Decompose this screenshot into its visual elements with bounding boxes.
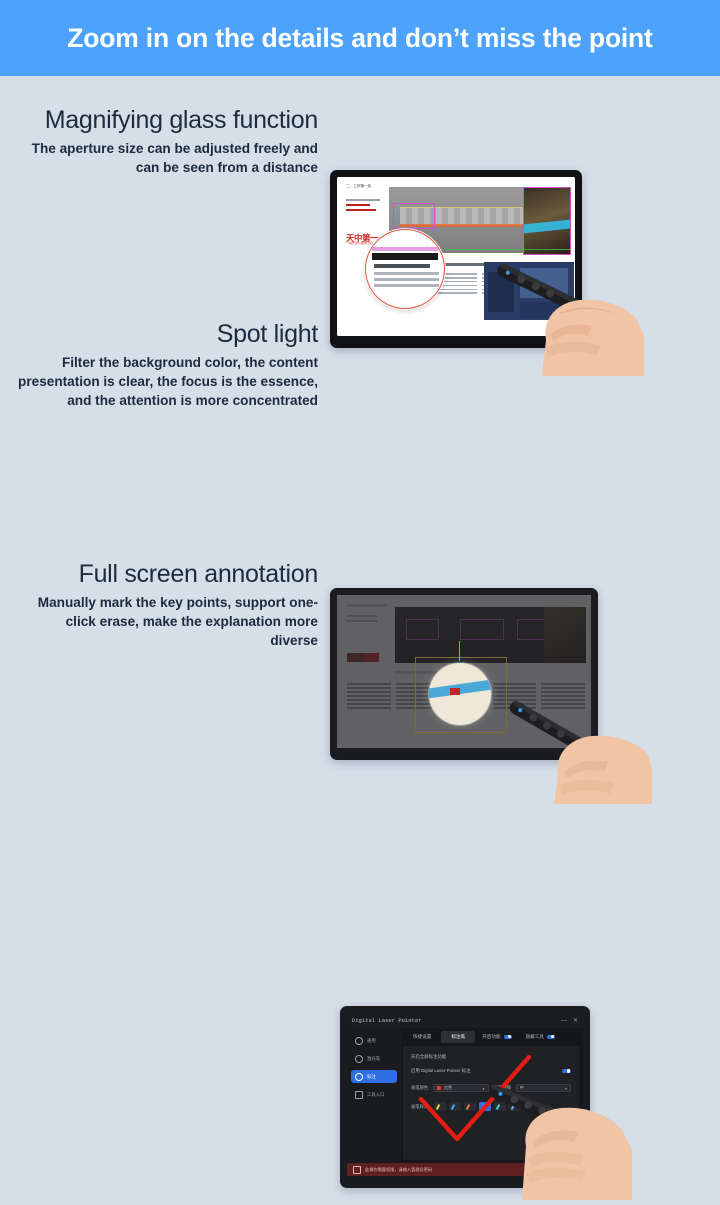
feature-media-3: Digital Laser Pointer — ✕ 快捷设置 标注笔 开启功能 [340,1006,590,1188]
chevron-down-icon: ▾ [565,1086,567,1091]
app-main-panel: 开启全屏标注功能 启用 Digital Laser Pointer 标注 画笔颜… [403,1046,579,1160]
pen-swatch-yellow[interactable] [434,1102,446,1111]
feature-text-1: Magnifying glass function The aperture s… [18,106,318,178]
warning-icon [353,1166,361,1174]
slide-heading-1: 二、工作第一站 [346,184,371,189]
sidebar-item-general-label: 通用 [367,1038,376,1044]
pen-width-select[interactable]: 中 ▾ [516,1084,571,1092]
page-title: Zoom in on the details and don’t miss th… [67,23,652,54]
toggle-enable-feature[interactable]: 开启功能 [475,1034,518,1040]
pen-swatch-lightblue[interactable] [509,1102,521,1111]
magnifier-zoomed-bar [372,253,438,260]
grid-icon [355,1091,363,1099]
pen-swatch-orange[interactable] [464,1102,476,1111]
chevron-down-icon: ▾ [482,1086,484,1091]
toggle-enable-feature-label: 开启功能 [482,1034,500,1040]
pen-color-swatch [437,1086,441,1090]
header-banner: Zoom in on the details and don’t miss th… [0,0,720,76]
sidebar-item-annotation[interactable]: 标注 [351,1070,397,1083]
panel-enable-switch[interactable] [562,1069,571,1074]
app-tab-bar: 快捷设置 标注笔 开启功能 隐藏工具 [403,1030,583,1044]
digital-laser-pointer-app: Digital Laser Pointer — ✕ 快捷设置 标注笔 开启功能 [347,1013,583,1176]
feature-row-spot-light: Spot light Filter the background color, … [0,292,720,482]
slide-meta-lines-1 [346,199,380,214]
app-title-text: Digital Laser Pointer [352,1018,422,1024]
tab-annotation-pen[interactable]: 标注笔 [441,1031,475,1043]
sidebar-item-general[interactable]: 通用 [351,1034,397,1047]
window-controls: — ✕ [561,1018,578,1024]
app-status-bar: 此操作需要权限，请输入管理员密码 [347,1163,583,1176]
minimize-icon[interactable]: — [561,1018,567,1024]
magnifier-zoomed-text [374,264,440,290]
infographic-page: Zoom in on the details and don’t miss th… [0,0,720,720]
pen-swatch-purple[interactable] [479,1102,491,1111]
toggle-hide-tools-label: 隐藏工具 [526,1034,544,1040]
pen-swatch-cyan[interactable] [494,1102,506,1111]
pen-color-select[interactable]: 红色 ▾ [433,1084,488,1092]
sidebar-item-laser-pen-label: 激光笔 [367,1056,380,1062]
feature-row-magnifying-glass: Magnifying glass function The aperture s… [0,84,720,280]
pointer-icon [355,1055,363,1063]
toggle-hide-tools-switch[interactable] [547,1035,555,1039]
tablet-device-3: Digital Laser Pointer — ✕ 快捷设置 标注笔 开启功能 [340,1006,590,1188]
pen-width-value: 中 [520,1085,524,1091]
pen-color-value: 红色 [444,1085,452,1091]
toggle-hide-tools[interactable]: 隐藏工具 [519,1034,562,1040]
slide-selection-box [393,203,435,229]
pen-color-label: 画笔颜色 [411,1085,428,1091]
panel-select-row: 画笔颜色 红色 ▾ 画笔粗细 中 ▾ [411,1084,571,1092]
app-title-bar: Digital Laser Pointer — ✕ [347,1013,583,1028]
app-sidebar: 通用 激光笔 标注 工 [347,1028,401,1162]
feature-description-1: The aperture size can be adjusted freely… [18,140,318,178]
feature-row-full-screen-annotation: Full screen annotation Manually mark the… [0,500,720,696]
sidebar-item-tool-entry-label: 工具入口 [367,1092,385,1098]
pen-style-label: 画笔样式 [411,1104,428,1110]
sidebar-item-tool-entry[interactable]: 工具入口 [351,1088,397,1101]
feature-title-3: Full screen annotation [18,560,318,588]
sidebar-item-annotation-label: 标注 [367,1074,376,1080]
gear-icon [355,1037,363,1045]
panel-enable-label: 启用 Digital Laser Pointer 标注 [411,1068,471,1074]
tab-quick-settings[interactable]: 快捷设置 [403,1031,441,1043]
feature-text-2: Spot light Filter the background color, … [18,320,318,410]
app-status-text: 此操作需要权限，请输入管理员密码 [365,1167,432,1173]
panel-section-label: 开启全屏标注功能 [411,1054,571,1060]
panel-pen-styles-row: 画笔样式 [411,1102,571,1111]
toggle-enable-feature-switch[interactable] [504,1035,512,1039]
tablet-screen-3: Digital Laser Pointer — ✕ 快捷设置 标注笔 开启功能 [347,1013,583,1176]
feature-description-3: Manually mark the key points, support on… [18,594,318,650]
pen-icon [355,1073,363,1081]
feature-title-2: Spot light [18,320,318,348]
feature-title-1: Magnifying glass function [18,106,318,134]
slide-photo-right-1 [523,187,571,255]
sidebar-item-laser-pen[interactable]: 激光笔 [351,1052,397,1065]
feature-text-3: Full screen annotation Manually mark the… [18,560,318,650]
pen-width-label: 画笔粗细 [494,1085,511,1091]
feature-description-2: Filter the background color, the content… [18,354,318,410]
pen-swatch-blue[interactable] [449,1102,461,1111]
close-icon[interactable]: ✕ [573,1018,578,1024]
panel-enable-row: 启用 Digital Laser Pointer 标注 [411,1068,571,1074]
